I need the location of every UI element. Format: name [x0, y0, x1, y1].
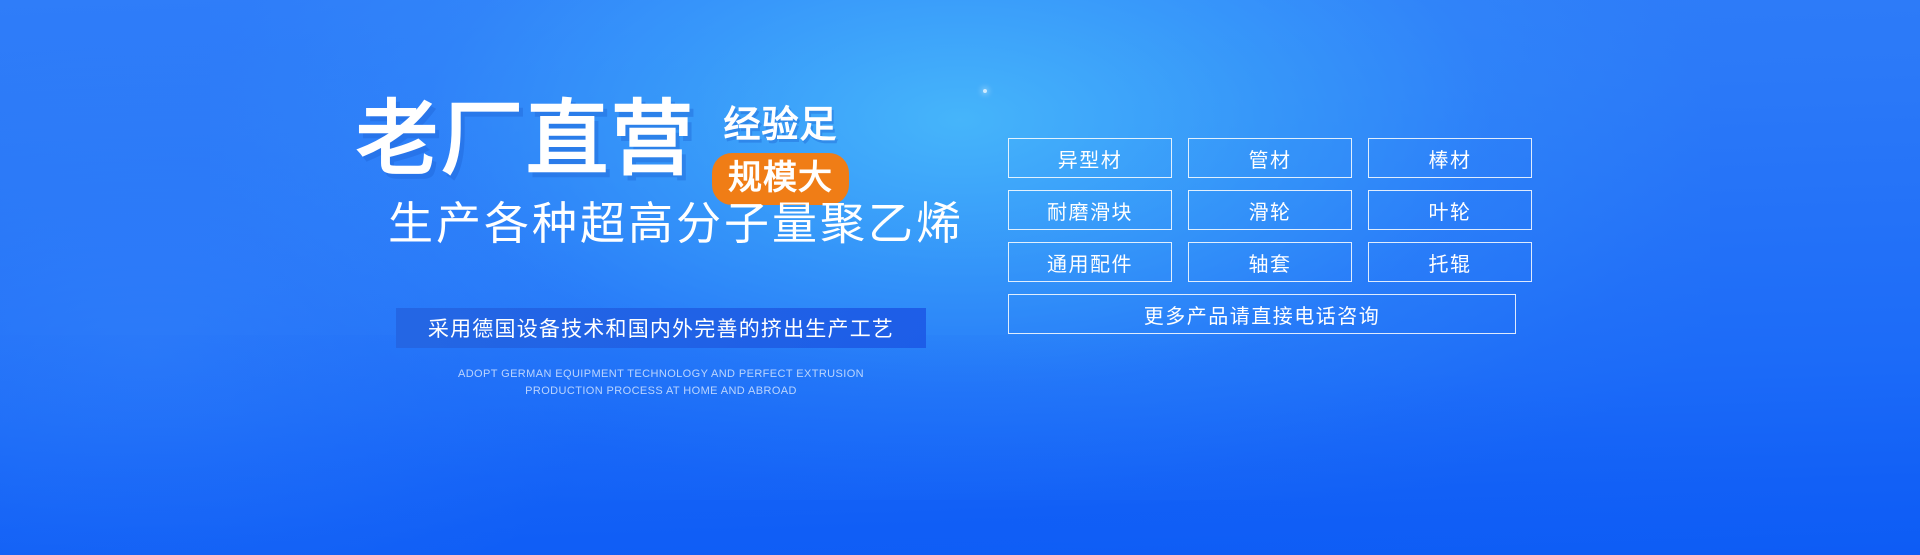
- product-button-tuogun[interactable]: 托辊: [1368, 242, 1532, 282]
- headline-block: 老厂直营 经验足 规模大 生产各种超高分子量聚乙烯 采用德国设备技术和国内外完善…: [0, 0, 990, 555]
- product-button-label: 托辊: [1429, 248, 1472, 277]
- promo-banner: 老厂直营 经验足 规模大 生产各种超高分子量聚乙烯 采用德国设备技术和国内外完善…: [0, 0, 1920, 555]
- badge-experience: 经验足: [724, 104, 838, 146]
- english-tagline-line-2: PRODUCTION PROCESS AT HOME AND ABROAD: [396, 383, 926, 400]
- product-button-hualun[interactable]: 滑轮: [1188, 190, 1352, 230]
- product-button-guancai[interactable]: 管材: [1188, 138, 1352, 178]
- headline-badge-stack: 经验足 规模大: [712, 104, 849, 205]
- headline-subtitle: 生产各种超高分子量聚乙烯: [388, 196, 964, 252]
- product-button-tongyongpeijian[interactable]: 通用配件: [1008, 242, 1172, 282]
- more-products-label: 更多产品请直接电话咨询: [1144, 300, 1381, 329]
- english-tagline-line-1: ADOPT GERMAN EQUIPMENT TECHNOLOGY AND PE…: [396, 366, 926, 383]
- product-category-panel: 异型材 管材 棒材 耐磨滑块 滑轮 叶轮 通用配件 轴套: [1008, 138, 1532, 334]
- more-products-button[interactable]: 更多产品请直接电话咨询: [1008, 294, 1516, 334]
- product-category-grid: 异型材 管材 棒材 耐磨滑块 滑轮 叶轮 通用配件 轴套: [1008, 138, 1532, 282]
- product-button-yelun[interactable]: 叶轮: [1368, 190, 1532, 230]
- tagline-bar: 采用德国设备技术和国内外完善的挤出生产工艺: [396, 308, 926, 348]
- product-button-label: 轴套: [1249, 248, 1292, 277]
- product-button-zhoutao[interactable]: 轴套: [1188, 242, 1352, 282]
- product-button-label: 异型材: [1058, 144, 1123, 173]
- headline-main: 老厂直营: [356, 98, 696, 182]
- product-button-label: 管材: [1249, 144, 1292, 173]
- product-button-naimohuakuai[interactable]: 耐磨滑块: [1008, 190, 1172, 230]
- product-button-bangcai[interactable]: 棒材: [1368, 138, 1532, 178]
- headline-row: 老厂直营 经验足 规模大: [356, 98, 849, 205]
- product-button-label: 耐磨滑块: [1047, 196, 1133, 225]
- english-tagline-block: ADOPT GERMAN EQUIPMENT TECHNOLOGY AND PE…: [396, 366, 926, 400]
- product-button-label: 叶轮: [1429, 196, 1472, 225]
- tagline-text: 采用德国设备技术和国内外完善的挤出生产工艺: [428, 313, 894, 343]
- product-button-label: 棒材: [1429, 144, 1472, 173]
- product-button-label: 滑轮: [1249, 196, 1292, 225]
- product-button-label: 通用配件: [1047, 248, 1133, 277]
- product-button-yixingcai[interactable]: 异型材: [1008, 138, 1172, 178]
